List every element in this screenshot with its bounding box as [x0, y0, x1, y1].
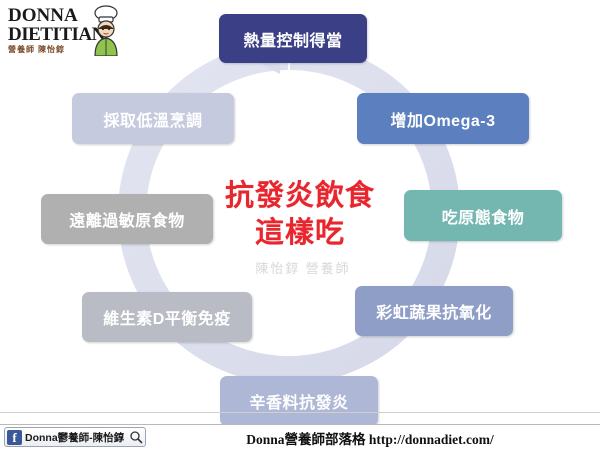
diagram-node-low-temp-cooking[interactable]: 採取低溫烹調 [72, 93, 234, 144]
facebook-icon: f [7, 430, 22, 445]
diagram-node-vitamin-d[interactable]: 維生素D平衡免疫 [82, 292, 252, 342]
footer-credit: Donna營養師部落格 http://donnadiet.com/ [150, 428, 590, 448]
slide-canvas: DONNA DIETITIAN 營養師 陳怡錞 [0, 0, 600, 450]
footer-bar: f Donna鬱養師-陳怡錞 Donna營養師部落格 http://donnad… [0, 424, 600, 451]
page-title-line-2: 這樣吃 [190, 215, 410, 252]
facebook-page-label: Donna鬱養師-陳怡錞 [25, 430, 129, 445]
search-icon[interactable] [129, 430, 143, 444]
footer-divider [0, 412, 600, 413]
diagram-node-whole-foods[interactable]: 吃原態食物 [404, 190, 562, 241]
watermark-text: 陳怡錞 營養師 [228, 258, 378, 277]
diagram-node-spices[interactable]: 辛香料抗發炎 [220, 376, 378, 426]
diagram-node-calorie-control[interactable]: 熱量控制得當 [219, 14, 367, 63]
diagram-node-rainbow-produce[interactable]: 彩虹蔬果抗氧化 [355, 286, 513, 336]
page-title-line-1: 抗發炎飲食 [190, 178, 410, 215]
diagram-node-omega-3[interactable]: 增加Omega-3 [357, 93, 529, 144]
page-title: 抗發炎飲食 這樣吃 [190, 178, 410, 252]
facebook-page-badge[interactable]: f Donna鬱養師-陳怡錞 [4, 427, 146, 447]
diagram-node-avoid-allergens[interactable]: 遠離過敏原食物 [41, 194, 213, 244]
